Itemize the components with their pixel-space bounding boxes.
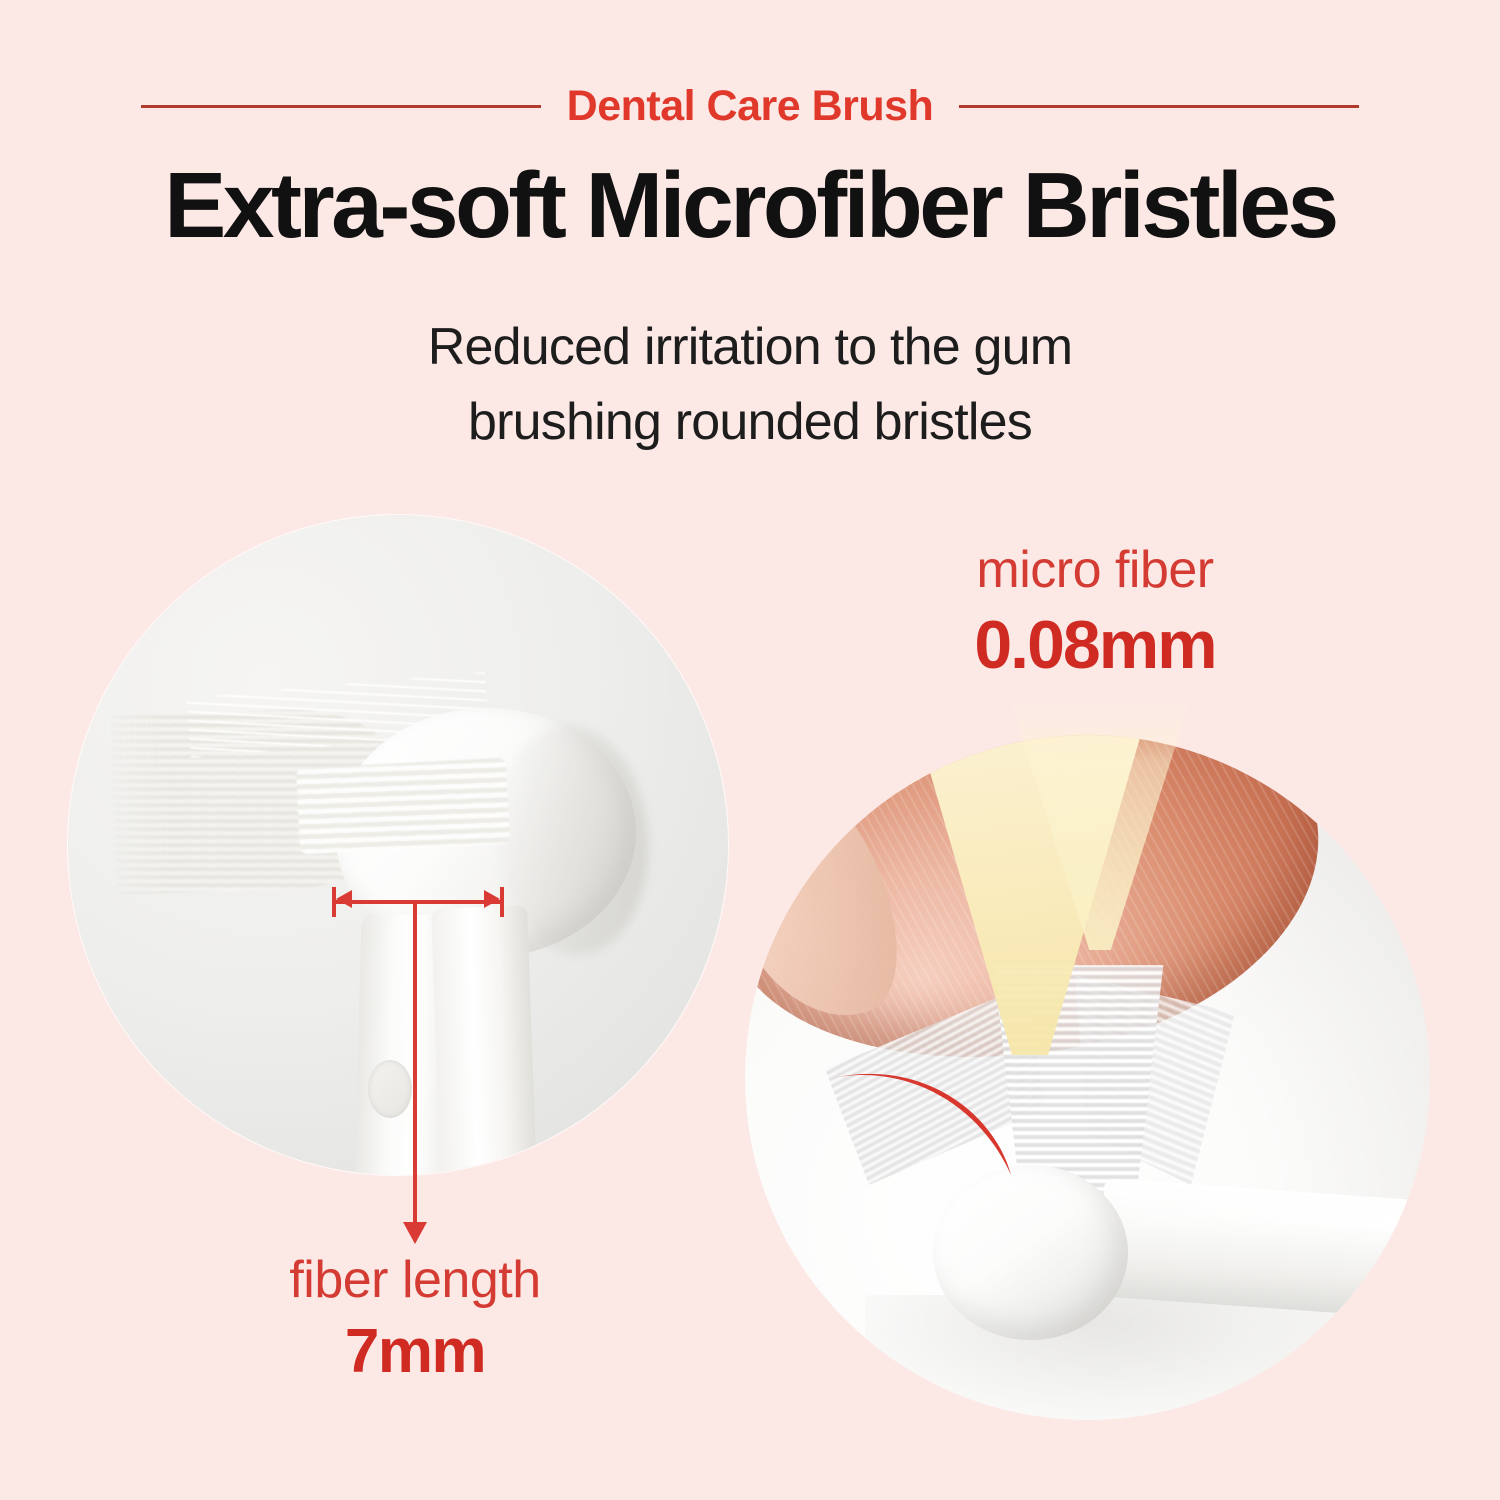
subtitle-line-1: Reduced irritation to the gum <box>0 310 1500 385</box>
brush-neck-secondary <box>431 905 537 1175</box>
measure-horizontal-line <box>332 900 504 904</box>
eyebrow-rule-right <box>959 105 1359 108</box>
micro-fiber-label: micro fiber <box>855 540 1335 600</box>
eyebrow-row: Dental Care Brush <box>0 78 1500 134</box>
fiber-length-label: fiber length <box>180 1250 650 1310</box>
brush-bristle-highlight <box>296 758 510 855</box>
micro-fiber-value: 0.08mm <box>855 606 1335 684</box>
measure-tick-right <box>500 887 504 917</box>
measure-arrowhead-left <box>336 890 352 908</box>
softness-arc-icon <box>825 1035 1085 1185</box>
measure-vertical-line <box>413 900 417 1230</box>
eyebrow-label: Dental Care Brush <box>567 82 934 131</box>
measure-arrowhead-right <box>484 890 500 908</box>
left-product-photo <box>68 515 728 1175</box>
micro-fiber-annotation: micro fiber 0.08mm <box>855 540 1335 684</box>
subtitle-line-2: brushing rounded bristles <box>0 385 1500 460</box>
fiber-length-annotation: fiber length 7mm <box>180 1250 650 1387</box>
brush-neck-dimple <box>368 1060 412 1118</box>
brush-base-shadow <box>865 1295 1385 1420</box>
page-title: Extra-soft Microfiber Bristles <box>0 152 1500 259</box>
brush-head-ball <box>933 1165 1128 1340</box>
fiber-length-value: 7mm <box>180 1316 650 1387</box>
page-subtitle: Reduced irritation to the gum brushing r… <box>0 310 1500 461</box>
measure-arrowhead-down <box>403 1222 427 1244</box>
eyebrow-rule-left <box>141 105 541 108</box>
